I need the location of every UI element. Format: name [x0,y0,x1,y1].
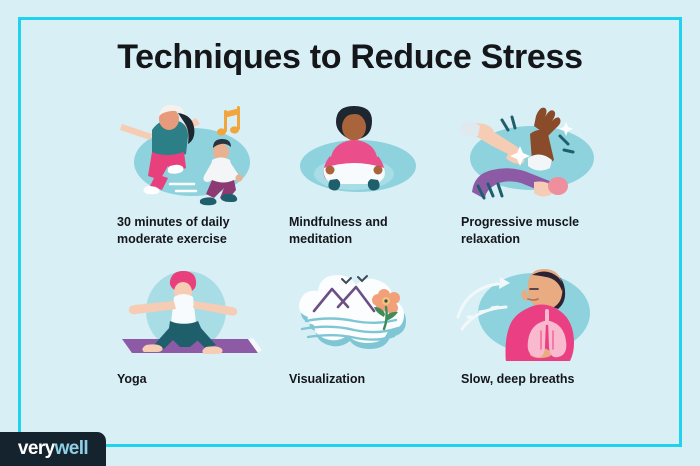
technique-caption: Slow, deep breaths [452,371,614,388]
technique-caption: Progressive muscle relaxation [452,214,614,247]
page-title: Techniques to Reduce Stress [0,38,700,77]
logo-text-primary: very [18,438,55,459]
technique-caption: Mindfulness and meditation [280,214,442,247]
technique-card-pmr: Progressive muscle relaxation [452,100,624,247]
logo-text-secondary: well [55,438,89,459]
running-people-with-music-notes-icon [108,100,268,208]
technique-caption: Yoga [108,371,270,388]
technique-card-mindfulness: Mindfulness and meditation [280,100,452,247]
relaxed-limbs-icon [452,100,612,208]
technique-caption: Visualization [280,371,442,388]
cloud-landscape-icon [280,265,440,365]
deep-breathing-lungs-icon [452,265,612,365]
techniques-row-bottom: Yoga [108,265,624,388]
technique-card-breathing: Slow, deep breaths [452,265,624,388]
verywell-logo: verywell [0,432,106,466]
seated-meditation-icon [280,100,440,208]
technique-caption: 30 minutes of daily moderate exercise [108,214,270,247]
technique-card-yoga: Yoga [108,265,280,388]
technique-card-visualization: Visualization [280,265,452,388]
techniques-grid: 30 minutes of daily moderate exercise [108,100,624,388]
techniques-row-top: 30 minutes of daily moderate exercise [108,100,624,247]
technique-card-exercise: 30 minutes of daily moderate exercise [108,100,280,247]
infographic-canvas: Techniques to Reduce Stress [0,0,700,466]
warrior-pose-on-mat-icon [108,265,268,365]
